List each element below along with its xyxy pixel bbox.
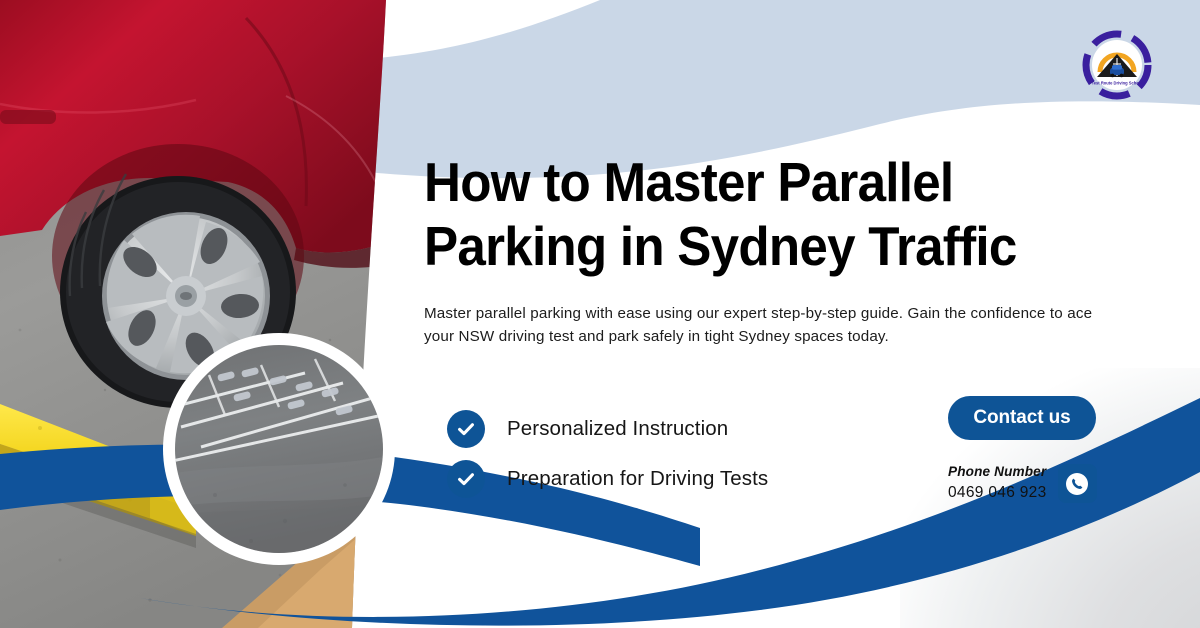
- phone-number-value[interactable]: 0469 046 923: [948, 483, 1047, 503]
- phone-icon[interactable]: [1058, 464, 1097, 503]
- phone-block: Phone Number 0469 046 923: [948, 464, 1128, 503]
- feature-list: Personalized Instruction Preparation for…: [447, 406, 768, 506]
- cta-area: Contact us Phone Number 0469 046 923: [948, 396, 1128, 503]
- content-column: How to Master Parallel Parking in Sydney…: [424, 0, 1124, 628]
- banner-canvas: Test Route Driving School How to Master …: [0, 0, 1200, 628]
- list-item: Personalized Instruction: [447, 406, 768, 452]
- feature-label: Personalized Instruction: [507, 417, 728, 441]
- list-item: Preparation for Driving Tests: [447, 456, 768, 502]
- subheadline: Master parallel parking with ease using …: [424, 302, 1096, 348]
- page-title: How to Master Parallel Parking in Sydney…: [424, 150, 1081, 279]
- phone-text: Phone Number 0469 046 923: [948, 464, 1047, 503]
- feature-label: Preparation for Driving Tests: [507, 467, 768, 491]
- phone-number-label: Phone Number: [948, 464, 1047, 481]
- check-circle-icon: [447, 410, 485, 448]
- inset-photo: [175, 345, 383, 553]
- check-circle-icon: [447, 460, 485, 498]
- inset-photo-frame: [163, 333, 395, 565]
- contact-us-button[interactable]: Contact us: [948, 396, 1096, 440]
